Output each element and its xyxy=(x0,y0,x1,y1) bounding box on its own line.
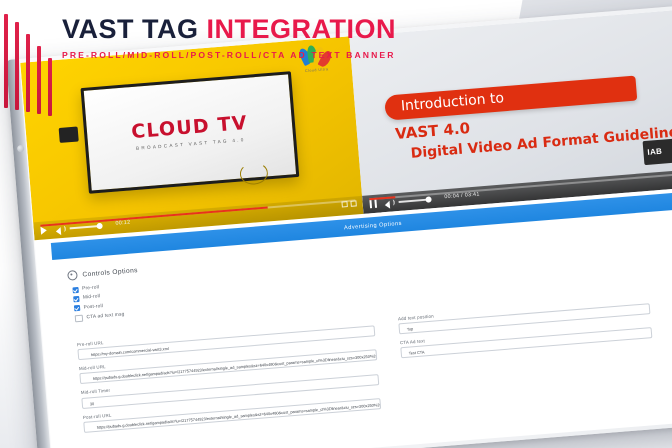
fullscreen-icon[interactable] xyxy=(350,200,356,206)
slide-line1: Introduction to xyxy=(400,90,504,114)
player-right-controls-left[interactable] xyxy=(341,200,356,207)
checkbox-mid-roll[interactable] xyxy=(73,296,79,302)
time-display-left: 00:12 xyxy=(115,220,130,227)
settings-icon[interactable] xyxy=(341,201,347,207)
pause-icon[interactable] xyxy=(369,200,377,209)
volume-knob[interactable] xyxy=(425,196,431,202)
gear-icon xyxy=(67,270,78,281)
title-block: VAST TAG INTEGRATION PRE-ROLL/MID-ROLL/P… xyxy=(62,16,396,60)
checkbox-post-roll[interactable] xyxy=(74,305,80,311)
volume-slider[interactable] xyxy=(399,199,429,203)
checkbox-pre-roll[interactable] xyxy=(72,287,78,293)
screenshot-root: VAST TAG INTEGRATION PRE-ROLL/MID-ROLL/P… xyxy=(0,0,672,448)
form-column-right: Add text position Top CTA Ad text Test C… xyxy=(390,293,672,413)
camera-icon xyxy=(16,145,24,153)
play-icon[interactable] xyxy=(40,226,47,234)
tv-stand xyxy=(59,126,79,142)
page-subtitle: PRE-ROLL/MID-ROLL/POST-ROLL/CTA AD TEXT … xyxy=(62,50,396,60)
volume-slider[interactable] xyxy=(70,225,100,229)
iab-badge-text: IAB xyxy=(647,147,662,157)
volume-knob[interactable] xyxy=(96,222,102,228)
decorative-stripes xyxy=(4,4,62,124)
checkbox-label-mid-roll: Mid-roll xyxy=(83,295,101,301)
iab-badge: IAB xyxy=(643,137,672,165)
page-title-accent: INTEGRATION xyxy=(207,14,397,44)
slide-line2: VAST 4.0 xyxy=(394,119,470,143)
checkbox-label-pre-roll: Pre-roll xyxy=(82,286,99,292)
panel-title: Controls Options xyxy=(82,267,138,278)
volume-icon[interactable] xyxy=(384,198,394,207)
checkbox-cta-ad-text[interactable] xyxy=(75,314,83,322)
page-title: VAST TAG INTEGRATION xyxy=(62,16,396,43)
volume-icon[interactable] xyxy=(55,225,65,234)
page-title-primary: VAST TAG xyxy=(62,14,207,44)
slide-title-band: Introduction to xyxy=(384,76,637,121)
form-column-left: Pre-roll URL https://my-domain.com/comme… xyxy=(59,317,398,440)
tv-cord xyxy=(239,161,269,185)
checkbox-label-cta-ad-text: CTA ad text msg xyxy=(86,312,124,320)
checkbox-label-post-roll: Post-roll xyxy=(84,304,104,311)
page-header: VAST TAG INTEGRATION PRE-ROLL/MID-ROLL/P… xyxy=(0,0,672,80)
advertising-options-label: Advertising Options xyxy=(344,220,402,231)
